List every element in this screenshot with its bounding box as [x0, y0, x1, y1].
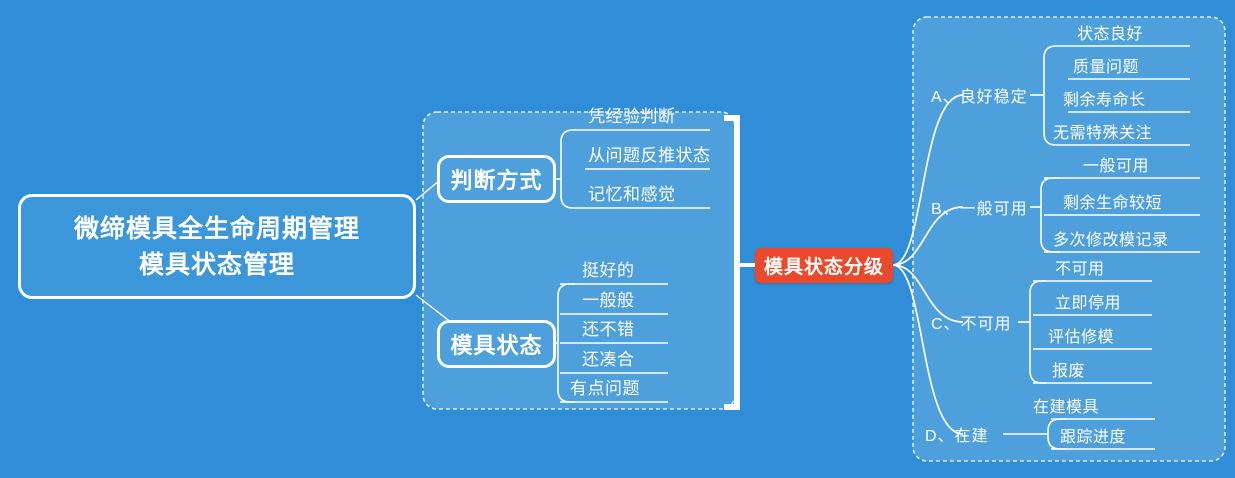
- branch-judgment-method[interactable]: 判断方式: [437, 155, 556, 203]
- root-title-line-2: 模具状态管理: [139, 247, 295, 283]
- leaf-status-2[interactable]: 一般般: [582, 286, 635, 311]
- center-node-status-grading[interactable]: 模具状态分级: [755, 248, 893, 283]
- leaf-b-2[interactable]: 剩余生命较短: [1063, 189, 1162, 213]
- leaf-a-1[interactable]: 状态良好: [1077, 20, 1143, 44]
- branch-a-label[interactable]: A、良好稳定: [931, 83, 1028, 107]
- leaf-d-2[interactable]: 跟踪进度: [1060, 423, 1126, 447]
- leaf-judgment-2[interactable]: 从问题反推状态: [588, 141, 711, 166]
- branch-judgment-method-label: 判断方式: [450, 163, 542, 195]
- leaf-status-4[interactable]: 还凑合: [582, 345, 635, 370]
- branch-c-label[interactable]: C、不可用: [931, 310, 1012, 334]
- leaf-d-1[interactable]: 在建模具: [1033, 393, 1099, 417]
- leaf-status-3[interactable]: 还不错: [582, 315, 635, 340]
- leaf-status-5[interactable]: 有点问题: [570, 374, 640, 399]
- root-node[interactable]: 微缔模具全生命周期管理 模具状态管理: [18, 194, 416, 299]
- leaf-c-3[interactable]: 评估修模: [1048, 323, 1114, 347]
- mindmap-canvas: 微缔模具全生命周期管理 模具状态管理 判断方式 模具状态 凭经验判断 从问题反推…: [0, 0, 1235, 478]
- leaf-a-4[interactable]: 无需特殊关注: [1053, 119, 1152, 143]
- root-title-line-1: 微缔模具全生命周期管理: [74, 211, 360, 247]
- leaf-judgment-3[interactable]: 记忆和感觉: [588, 180, 676, 205]
- branch-b-label[interactable]: B、一般可用: [931, 195, 1028, 219]
- leaf-c-4[interactable]: 报废: [1052, 357, 1085, 381]
- leaf-c-1[interactable]: 不可用: [1055, 255, 1105, 279]
- branch-d-label[interactable]: D、在建: [925, 422, 989, 446]
- leaf-b-3[interactable]: 多次修改模记录: [1053, 226, 1169, 250]
- center-node-label: 模具状态分级: [764, 252, 884, 279]
- leaf-a-3[interactable]: 剩余寿命长: [1063, 86, 1146, 110]
- leaf-status-1[interactable]: 挺好的: [582, 256, 635, 281]
- leaf-c-2[interactable]: 立即停用: [1055, 289, 1121, 313]
- leaf-a-2[interactable]: 质量问题: [1073, 53, 1139, 77]
- branch-mold-status[interactable]: 模具状态: [437, 320, 556, 368]
- branch-mold-status-label: 模具状态: [450, 328, 542, 360]
- leaf-judgment-1[interactable]: 凭经验判断: [588, 102, 676, 127]
- leaf-b-1[interactable]: 一般可用: [1083, 152, 1149, 176]
